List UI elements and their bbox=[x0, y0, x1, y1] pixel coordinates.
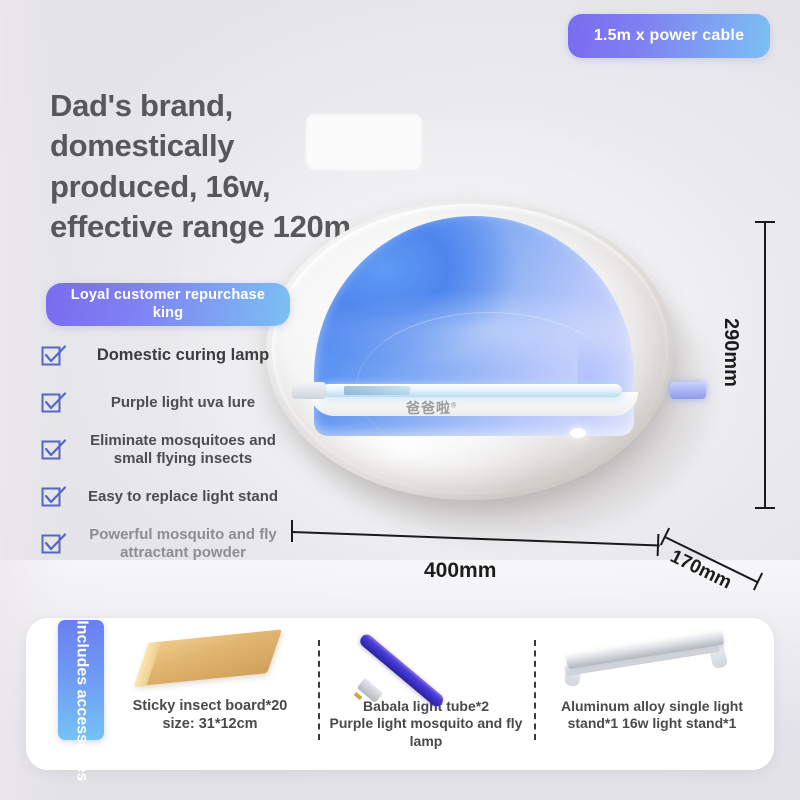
product-infographic: 1.5m x power cable Dad's brand, domestic… bbox=[0, 0, 800, 800]
tube-print-label bbox=[344, 386, 410, 395]
height-dimension-line bbox=[764, 222, 766, 508]
lamp-specular-highlight bbox=[570, 428, 586, 438]
power-cable-badge: 1.5m x power cable bbox=[568, 14, 770, 58]
sticky-insect-board-icon bbox=[110, 622, 310, 698]
feature-item-0: Domestic curing lamp bbox=[40, 336, 292, 376]
blank-overlay-patch bbox=[306, 114, 422, 170]
checkbox-check-icon bbox=[40, 483, 68, 511]
includes-accessories-label: Includes accessories bbox=[72, 620, 91, 740]
aluminum-light-stand-icon bbox=[540, 622, 764, 698]
checkbox-check-icon bbox=[40, 530, 68, 558]
height-dimension-cap-top bbox=[755, 221, 775, 223]
checkbox-check-icon bbox=[40, 389, 68, 417]
checkbox-check-icon bbox=[40, 436, 68, 464]
accessory-divider-1 bbox=[318, 640, 320, 740]
product-image: 爸爸啦® bbox=[258, 188, 728, 548]
height-dimension-label: 290mm bbox=[719, 318, 742, 387]
accessory-item-1: Babala light tube*2 Purple light mosquit… bbox=[328, 622, 524, 750]
accessory-caption: Sticky insect board*20 size: 31*12cm bbox=[133, 698, 288, 734]
accessory-item-2: Aluminum alloy single light stand*1 16w … bbox=[540, 622, 764, 733]
feature-label: Domestic curing lamp bbox=[74, 346, 292, 365]
tube-cap-left bbox=[292, 382, 326, 399]
includes-accessories-tab: Includes accessories bbox=[58, 620, 104, 740]
width-dimension-cap-right bbox=[657, 534, 660, 556]
feature-list: Domestic curing lamp Purple light uva lu… bbox=[40, 336, 292, 571]
height-dimension-cap-bottom bbox=[755, 507, 775, 509]
tube-cap-right bbox=[670, 382, 706, 399]
feature-label: Easy to replace light stand bbox=[74, 488, 292, 506]
feature-item-2: Eliminate mosquitoes and small flying in… bbox=[40, 430, 292, 470]
accessory-caption: Babala light tube*2 Purple light mosquit… bbox=[328, 698, 524, 750]
brand-logo-text: 爸爸啦 bbox=[406, 400, 451, 416]
brand-logo: 爸爸啦® bbox=[406, 398, 457, 418]
feature-item-4: Powerful mosquito and fly attractant pow… bbox=[40, 524, 292, 564]
accessory-caption: Aluminum alloy single light stand*1 16w … bbox=[540, 698, 764, 733]
sticky-board-shape bbox=[134, 629, 282, 686]
registered-trademark-icon: ® bbox=[451, 402, 457, 409]
uv-light-tube-icon bbox=[328, 622, 524, 698]
loyal-customer-badge: Loyal customer repurchase king bbox=[46, 283, 290, 326]
feature-label: Eliminate mosquitoes and small flying in… bbox=[74, 432, 292, 467]
feature-label: Purple light uva lure bbox=[74, 394, 292, 412]
width-dimension-label: 400mm bbox=[424, 559, 496, 583]
feature-item-1: Purple light uva lure bbox=[40, 383, 292, 423]
feature-label: Powerful mosquito and fly attractant pow… bbox=[74, 526, 292, 561]
checkbox-check-icon bbox=[40, 342, 68, 370]
feature-item-3: Easy to replace light stand bbox=[40, 477, 292, 517]
accessory-divider-2 bbox=[534, 640, 536, 740]
accessory-item-0: Sticky insect board*20 size: 31*12cm bbox=[110, 622, 310, 734]
